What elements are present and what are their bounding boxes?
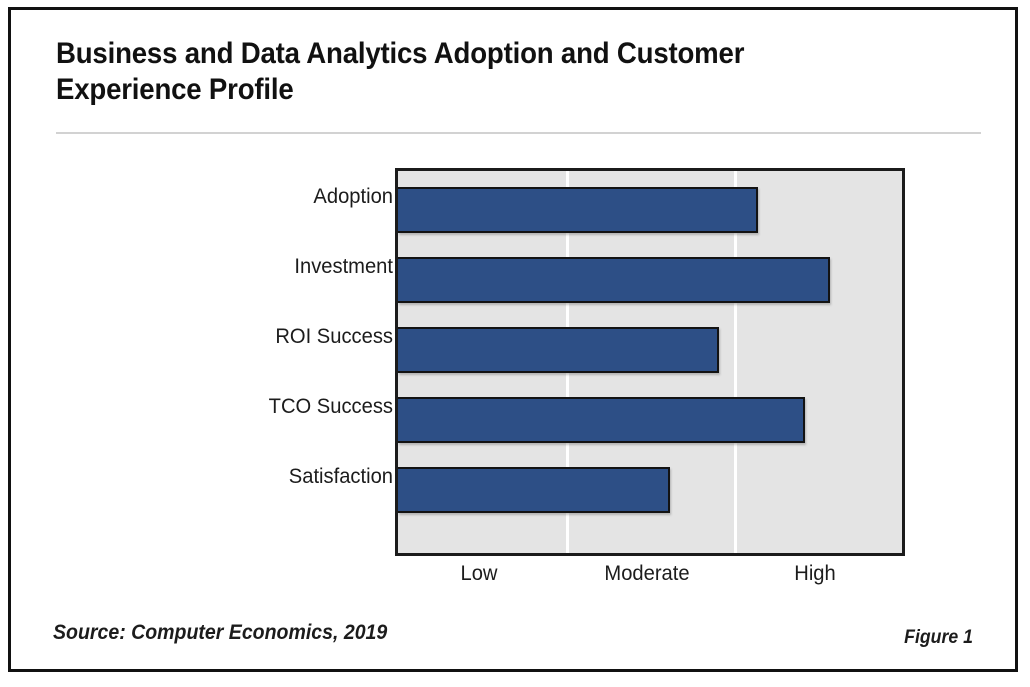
figure-card: Business and Data Analytics Adoption and… — [8, 7, 1018, 672]
source-note: Source: Computer Economics, 2019 — [53, 621, 387, 645]
plot-inner — [398, 171, 902, 553]
y-axis-label-investment: Investment — [170, 255, 393, 279]
figure-number-label: Figure 1 — [904, 627, 973, 649]
y-axis-label-tco-success: TCO Success — [170, 395, 393, 419]
y-axis-labels: Adoption Investment ROI Success TCO Succ… — [161, 175, 393, 557]
bar-tco-success — [398, 397, 805, 443]
y-axis-label-roi-success: ROI Success — [170, 325, 393, 349]
x-axis-label-moderate: Moderate — [604, 562, 689, 586]
bar-chart: Adoption Investment ROI Success TCO Succ… — [11, 10, 1015, 669]
x-axis-labels: Low Moderate High — [395, 562, 905, 596]
bar-roi-success — [398, 327, 719, 373]
bar-satisfaction — [398, 467, 670, 513]
y-axis-label-satisfaction: Satisfaction — [170, 465, 393, 489]
x-axis-label-high: High — [794, 562, 835, 586]
bar-adoption — [398, 187, 758, 233]
bar-investment — [398, 257, 830, 303]
plot-area — [395, 168, 905, 556]
x-axis-label-low: Low — [461, 562, 498, 586]
y-axis-label-adoption: Adoption — [170, 185, 393, 209]
